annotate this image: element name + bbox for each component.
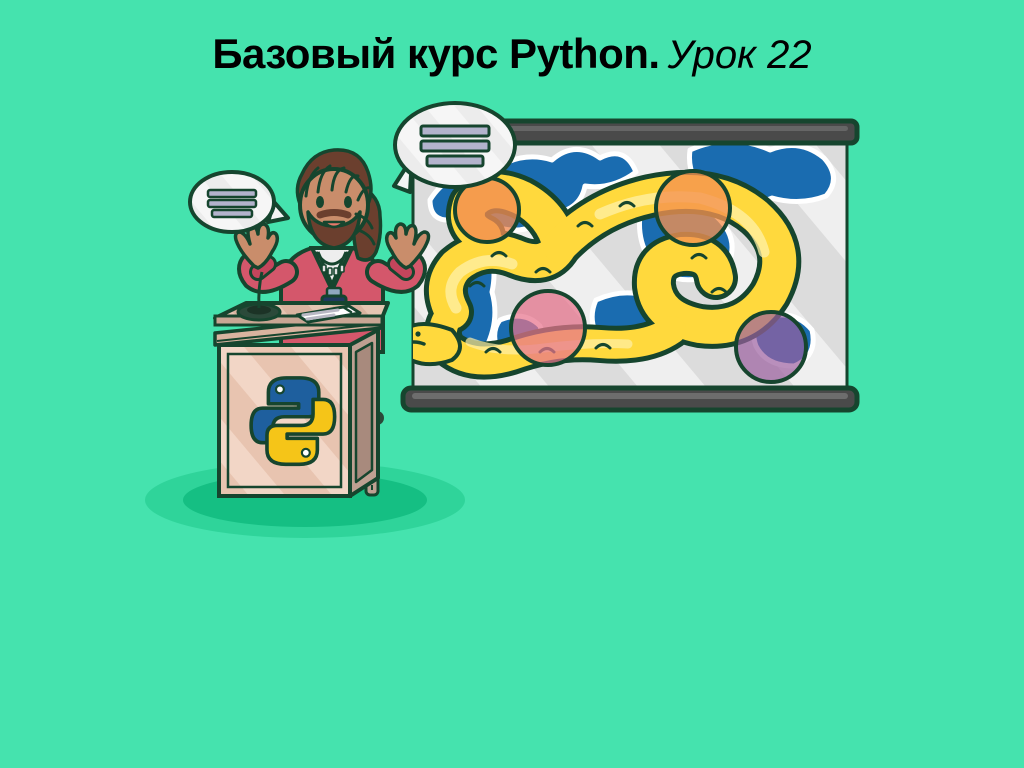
circle-purple-right [736,312,806,382]
speech-bubble-small [190,172,288,232]
screen-bottom-bar [403,388,857,410]
circle-pink-bottom [511,291,585,365]
illustration [0,0,1024,768]
podium [215,272,388,496]
circle-orange-top [656,171,730,245]
snake-head [398,324,460,364]
slide-canvas: Базовый курс Python.Урок 22 [0,0,1024,768]
